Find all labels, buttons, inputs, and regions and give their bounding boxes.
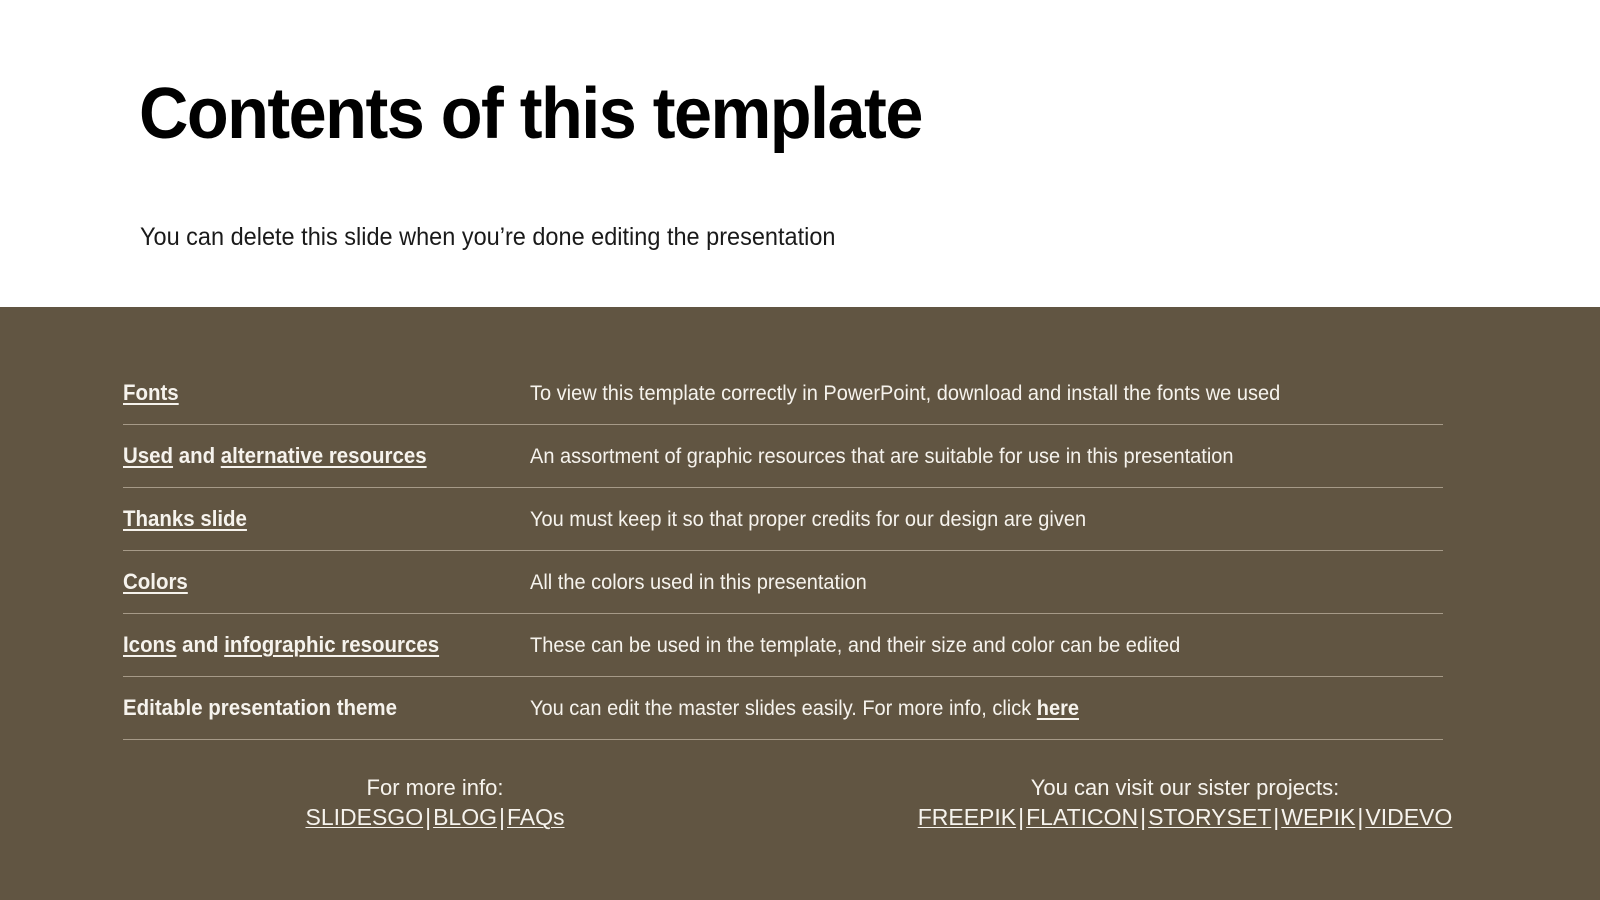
contents-link[interactable]: Colors: [123, 569, 188, 594]
footer-link-storyset[interactable]: STORYSET: [1148, 804, 1271, 830]
footer-links-sister-projects: FREEPIK|FLATICON|STORYSET|WEPIK|VIDEVO: [835, 804, 1535, 832]
footer-link-blog[interactable]: BLOG: [433, 804, 497, 830]
table-row: Icons and infographic resourcesThese can…: [123, 614, 1443, 677]
row-description: An assortment of graphic resources that …: [530, 444, 1379, 469]
row-label: Editable presentation theme: [123, 695, 502, 721]
contents-text: and: [173, 443, 221, 468]
contents-text: To view this template correctly in Power…: [530, 381, 1280, 405]
row-description: You must keep it so that proper credits …: [530, 507, 1379, 532]
footer-link-wepik[interactable]: WEPIK: [1281, 804, 1355, 830]
contents-table: FontsTo view this template correctly in …: [123, 362, 1443, 740]
contents-link[interactable]: here: [1037, 696, 1079, 720]
footer-heading-more-info: For more info:: [55, 775, 815, 801]
slide-canvas: Contents of this template You can delete…: [0, 0, 1600, 900]
table-row: Editable presentation themeYou can edit …: [123, 677, 1443, 740]
footer-links-more-info: SLIDESGO|BLOG|FAQs: [55, 804, 815, 832]
link-separator: |: [1138, 804, 1148, 832]
contents-panel: FontsTo view this template correctly in …: [0, 307, 1600, 900]
row-label: Fonts: [123, 380, 502, 406]
contents-link[interactable]: Icons: [123, 632, 176, 657]
row-label: Thanks slide: [123, 506, 502, 532]
row-description: To view this template correctly in Power…: [530, 381, 1379, 406]
contents-link[interactable]: infographic resources: [224, 632, 439, 657]
link-separator: |: [497, 804, 507, 832]
footer-link-slidesgo[interactable]: SLIDESGO: [305, 804, 423, 830]
footer-link-faqs[interactable]: FAQs: [507, 804, 565, 830]
link-separator: |: [1355, 804, 1365, 832]
link-separator: |: [423, 804, 433, 832]
footer-column-sister-projects: You can visit our sister projects: FREEP…: [835, 775, 1535, 832]
contents-text: You can edit the master slides easily. F…: [530, 696, 1037, 720]
row-description: All the colors used in this presentation: [530, 570, 1379, 595]
table-row: Used and alternative resourcesAn assortm…: [123, 425, 1443, 488]
footer: For more info: SLIDESGO|BLOG|FAQs You ca…: [0, 775, 1600, 832]
header-zone: Contents of this template You can delete…: [0, 0, 1600, 313]
contents-text: Editable presentation theme: [123, 695, 397, 720]
contents-text: You must keep it so that proper credits …: [530, 507, 1086, 531]
footer-link-flaticon[interactable]: FLATICON: [1026, 804, 1138, 830]
table-row: Thanks slideYou must keep it so that pro…: [123, 488, 1443, 551]
link-separator: |: [1016, 804, 1026, 832]
footer-link-videvo[interactable]: VIDEVO: [1365, 804, 1452, 830]
footer-link-freepik[interactable]: FREEPIK: [918, 804, 1016, 830]
row-label: Colors: [123, 569, 502, 595]
contents-link[interactable]: Fonts: [123, 380, 179, 405]
row-label: Icons and infographic resources: [123, 632, 502, 658]
table-row: ColorsAll the colors used in this presen…: [123, 551, 1443, 614]
contents-link[interactable]: Used: [123, 443, 173, 468]
contents-link[interactable]: alternative resources: [221, 443, 427, 468]
contents-text: These can be used in the template, and t…: [530, 633, 1180, 657]
contents-text: and: [176, 632, 224, 657]
footer-column-more-info: For more info: SLIDESGO|BLOG|FAQs: [55, 775, 815, 832]
table-row: FontsTo view this template correctly in …: [123, 362, 1443, 425]
contents-text: All the colors used in this presentation: [530, 570, 867, 594]
row-label: Used and alternative resources: [123, 443, 502, 469]
link-separator: |: [1271, 804, 1281, 832]
footer-heading-sister-projects: You can visit our sister projects:: [835, 775, 1535, 801]
row-description: These can be used in the template, and t…: [530, 633, 1379, 658]
contents-link[interactable]: Thanks slide: [123, 506, 247, 531]
row-description: You can edit the master slides easily. F…: [530, 696, 1379, 721]
page-subtitle: You can delete this slide when you’re do…: [140, 222, 835, 252]
page-title: Contents of this template: [139, 78, 922, 150]
contents-text: An assortment of graphic resources that …: [530, 444, 1234, 468]
